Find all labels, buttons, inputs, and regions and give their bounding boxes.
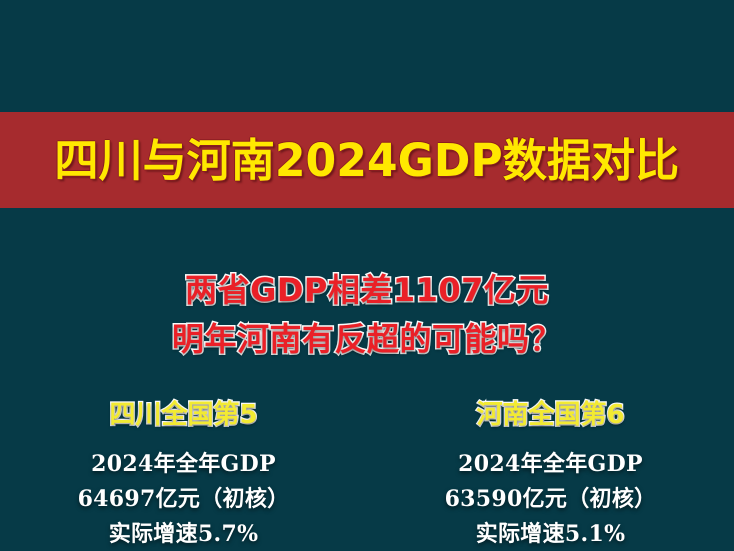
gdp-comparison-poster: 四川与河南2024GDP数据对比 两省GDP相差1107亿元 明年河南有反超的可…: [0, 0, 734, 551]
column-sichuan-line-2: 64697亿元（初核）: [0, 482, 367, 517]
headline-block: 两省GDP相差1107亿元 明年河南有反超的可能吗？: [0, 266, 734, 364]
headline-line-2: 明年河南有反超的可能吗？: [0, 315, 734, 364]
comparison-columns: 四川全国第5 2024年全年GDP 64697亿元（初核） 实际增速5.7% 河…: [0, 398, 734, 551]
column-sichuan-line-3: 实际增速5.7%: [0, 517, 367, 551]
column-henan: 河南全国第6 2024年全年GDP 63590亿元（初核） 实际增速5.1%: [367, 398, 734, 551]
column-henan-line-3: 实际增速5.1%: [367, 517, 734, 551]
column-sichuan: 四川全国第5 2024年全年GDP 64697亿元（初核） 实际增速5.7%: [0, 398, 367, 551]
column-henan-heading: 河南全国第6: [367, 398, 734, 432]
page-title: 四川与河南2024GDP数据对比: [55, 138, 680, 183]
column-henan-line-1: 2024年全年GDP: [367, 447, 734, 482]
title-banner: 四川与河南2024GDP数据对比: [0, 112, 734, 208]
column-sichuan-heading: 四川全国第5: [0, 398, 367, 432]
headline-line-1: 两省GDP相差1107亿元: [0, 266, 734, 315]
column-henan-line-2: 63590亿元（初核）: [367, 482, 734, 517]
column-sichuan-line-1: 2024年全年GDP: [0, 447, 367, 482]
